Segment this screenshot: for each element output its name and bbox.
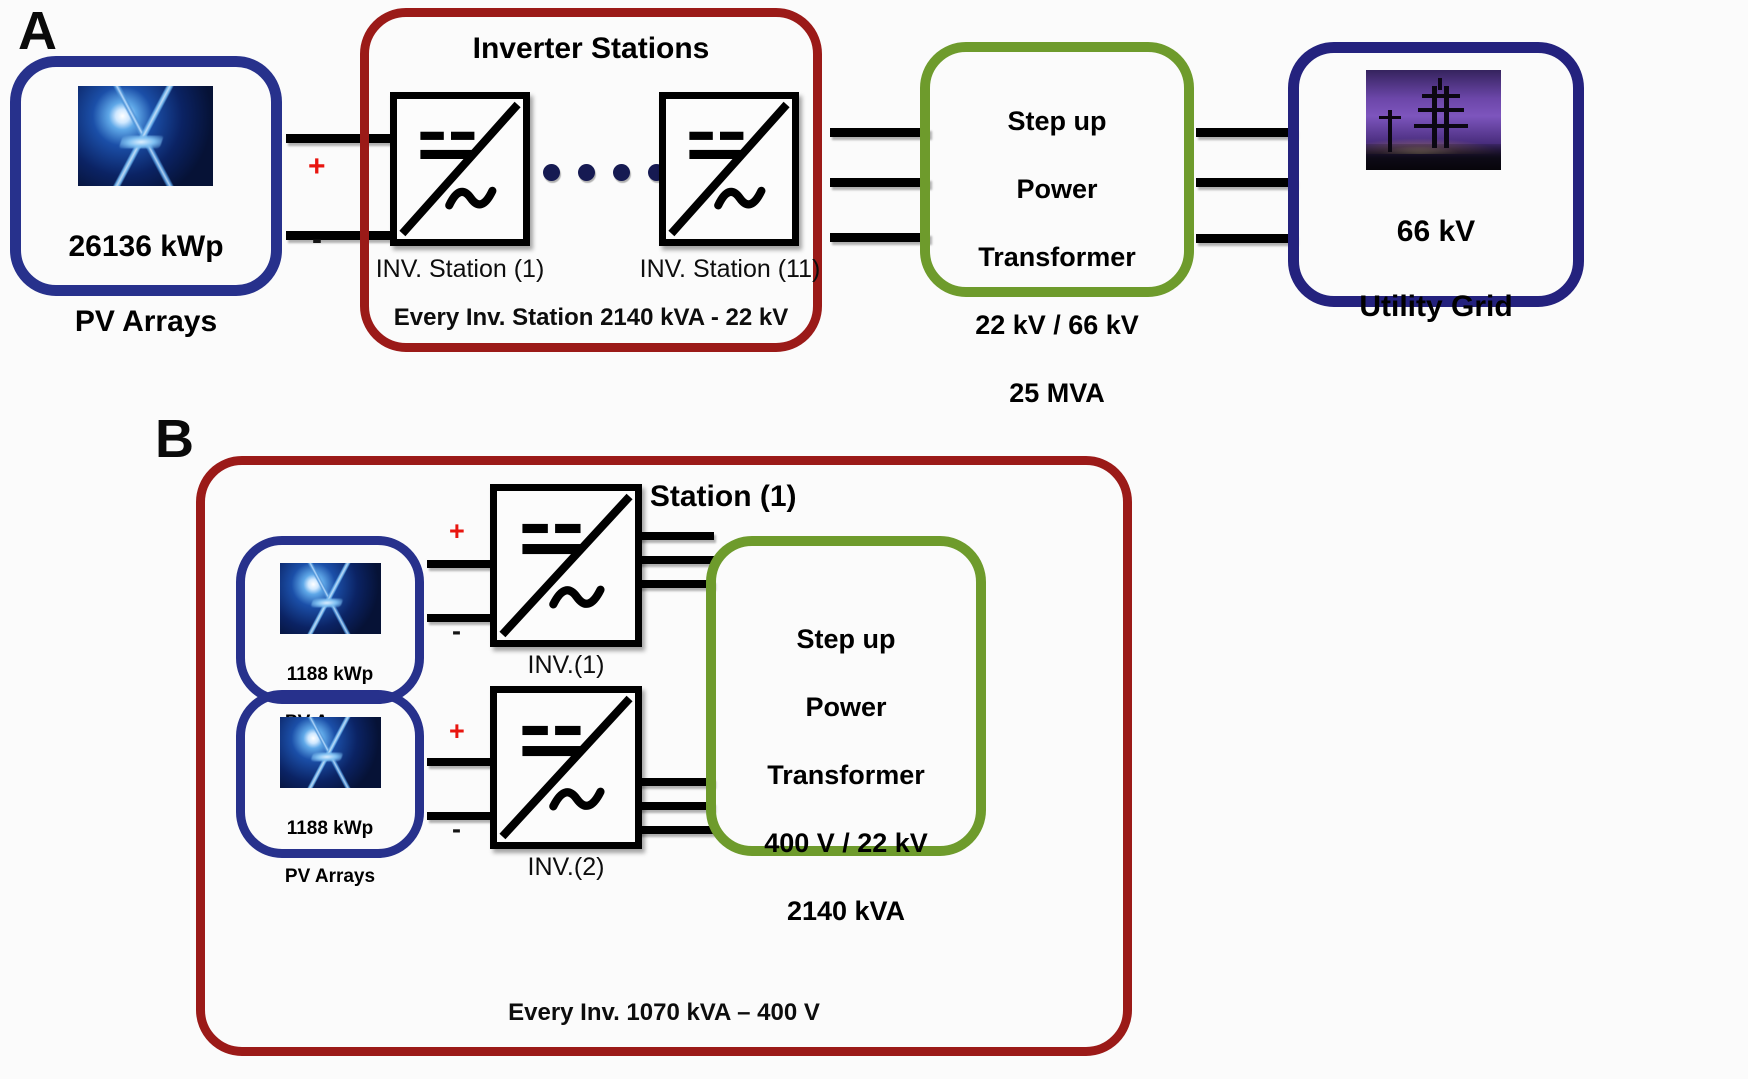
panel-b-inverter-symbol-1 [490,484,642,647]
panel-b-transformer-line-4: 400 V / 22 kV [706,826,986,860]
panel-a-transformer-label: Step up Power Transformer 22 kV / 66 kV … [920,70,1194,444]
panel-b-inverter-label-2: INV.(2) [490,854,642,882]
panel-b-transformer-line-2: Power [706,690,986,724]
panel-a-grid-label: 66 kV Utility Grid [1288,175,1584,364]
panel-b-minus-sign-1: - [452,618,461,645]
pylon-cross-3 [1414,124,1468,128]
panel-a-inverter-label-2: INV. Station (11) [624,256,836,284]
panel-a-grid-line1: 66 kV [1288,213,1584,251]
panel-b-ac-cable-1c [638,580,714,588]
panel-a-transformer-line-2: Power [920,172,1194,206]
panel-a-pv-label: 26136 kWp PV Arrays [10,190,282,379]
panel-b-inverter-label-1: INV.(1) [490,652,642,680]
panel-a-letter: A [18,4,57,58]
ellipsis-dot-3 [613,164,630,181]
panel-b-letter: B [155,412,194,466]
pv-array-photo-b2 [280,717,381,788]
panel-a-inverter-label-1: INV. Station (1) [360,256,560,284]
panel-b-ac-cable-2a [638,778,714,786]
panel-b-station-title: Inverter Station (1) [196,478,1132,516]
panel-a-transformer-line-5: 25 MVA [920,376,1194,410]
pv-array-photo-a [78,86,213,186]
figure-canvas: A 26136 kWp PV Arrays + - Inverter Stati… [0,0,1748,1079]
pylon-secondary-cross [1379,116,1401,119]
panel-b-pv2-line1: 1188 kWp [236,817,424,841]
panel-a-hv-cable-1 [1196,128,1296,137]
panel-a-pv-line1: 26136 kWp [10,228,282,266]
panel-a-pv-line2: PV Arrays [10,303,282,341]
panel-b-pv1-line1: 1188 kWp [236,663,424,687]
panel-a-hv-cable-2 [1196,178,1296,187]
panel-b-dc-positive-cable-1 [427,560,495,568]
pv-array-photo-b1 [280,563,381,634]
panel-b-pv-label-2: 1188 kWp PV Arrays [236,793,424,913]
panel-a-inverter-symbol-1 [390,92,530,246]
panel-a-transformer-line-3: Transformer [920,240,1194,274]
panel-b-minus-sign-2: - [452,816,461,843]
panel-b-dc-negative-cable-1 [427,614,495,622]
ellipsis-dot-2 [578,164,595,181]
panel-b-dc-positive-cable-2 [427,758,495,766]
panel-b-plus-sign-2: + [449,718,465,745]
panel-b-station-footer: Every Inv. 1070 kVA – 400 V [196,1000,1132,1026]
panel-a-grid-line2: Utility Grid [1288,288,1584,326]
panel-a-inverter-symbol-2 [659,92,799,246]
transmission-pylon-photo [1366,70,1501,170]
ellipsis-dot-1 [543,164,560,181]
panel-a-minus-sign: - [312,225,322,255]
panel-a-ac-cable-1 [830,128,930,137]
panel-a-plus-sign: + [308,152,326,182]
panel-a-inverter-group-title: Inverter Stations [360,30,822,68]
panel-a-transformer-line-1: Step up [920,104,1194,138]
panel-b-transformer-line-5: 2140 kVA [706,894,986,928]
panel-b-transformer-line-3: Transformer [706,758,986,792]
panel-a-hv-cable-3 [1196,234,1296,243]
pylon-apex [1438,78,1442,90]
panel-b-pv2-line2: PV Arrays [236,865,424,889]
pylon-cross-2 [1418,108,1464,112]
panel-a-ac-cable-2 [830,178,930,187]
panel-b-ac-cable-2c [638,826,714,834]
panel-b-plus-sign-1: + [449,518,465,545]
pylon-cross-1 [1422,94,1460,98]
panel-b-inverter-symbol-2 [490,686,642,849]
panel-b-ac-cable-1a [638,532,714,540]
panel-b-ac-cable-1b [638,556,714,564]
panel-a-ac-cable-3 [830,233,930,242]
panel-b-transformer-label: Step up Power Transformer 400 V / 22 kV … [706,588,986,962]
panel-a-transformer-line-4: 22 kV / 66 kV [920,308,1194,342]
panel-b-ac-cable-2b [638,802,714,810]
panel-b-transformer-line-1: Step up [706,622,986,656]
panel-b-dc-negative-cable-2 [427,812,495,820]
panel-a-inverter-group-footer: Every Inv. Station 2140 kVA - 22 kV [360,305,822,331]
